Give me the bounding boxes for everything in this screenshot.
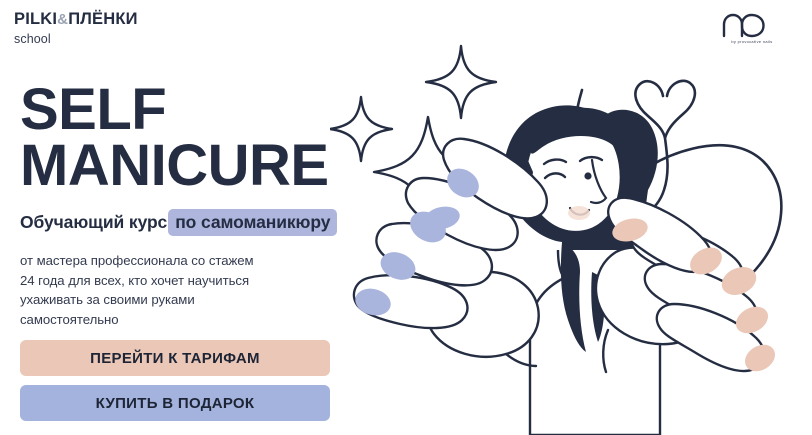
- nail: [376, 247, 419, 285]
- hair-strand: [518, 156, 538, 228]
- buy-as-gift-button[interactable]: КУПИТЬ В ПОДАРОК: [20, 385, 330, 421]
- left-hand: [352, 139, 547, 366]
- sparkle-icon: [426, 46, 496, 118]
- brand-ampersand: &: [57, 11, 68, 28]
- torso-shirt: [530, 250, 660, 435]
- no-monogram-icon: [714, 12, 790, 38]
- brand-subtitle: school: [14, 33, 138, 46]
- blush: [568, 206, 590, 220]
- nail: [740, 339, 780, 376]
- hair-fringe: [530, 108, 634, 186]
- subheadline-plain: Обучающий курс: [20, 212, 167, 232]
- subheadline-highlight: по самоманикюру: [168, 209, 337, 236]
- nail: [405, 205, 452, 248]
- hair-tip: [591, 272, 605, 342]
- hero-copy: SELF MANICURE Обучающий курспо самоманик…: [20, 82, 360, 329]
- eyebrow-left: [544, 160, 566, 164]
- face: [526, 124, 621, 232]
- eye-left-wink: [545, 173, 565, 178]
- sparkle-icon: [374, 117, 482, 227]
- figure: [352, 105, 780, 435]
- nail: [610, 215, 650, 245]
- brand-name-cyrillic: ПЛЁНКИ: [68, 10, 138, 28]
- partner-caption: by provocative nails: [714, 39, 790, 44]
- hair-over-shoulder: [561, 242, 586, 352]
- heart-doodle-icon: [623, 81, 782, 300]
- nail: [685, 242, 726, 280]
- hero-illustration: [330, 0, 812, 435]
- partner-logo[interactable]: by provocative nails: [714, 12, 790, 44]
- brand-logo[interactable]: PILKI&ПЛЁНКИ school: [14, 11, 138, 45]
- go-to-pricing-button[interactable]: ПЕРЕЙТИ К ТАРИФАМ: [20, 340, 330, 376]
- eyebrow-right: [580, 157, 602, 161]
- nail: [731, 301, 772, 338]
- hero-subheadline: Обучающий курспо самоманикюру: [20, 212, 360, 233]
- mouth: [570, 208, 589, 215]
- woman-with-manicure-illustration: [330, 0, 812, 435]
- hair: [504, 105, 658, 344]
- brand-wordmark: PILKI&ПЛЁНКИ: [14, 11, 138, 28]
- nail: [422, 203, 462, 232]
- page-title: SELF MANICURE: [20, 82, 360, 193]
- brand-name-latin: PILKI: [14, 10, 57, 28]
- hero-banner: PILKI&ПЛЁНКИ school by provocative nails…: [0, 0, 812, 435]
- nail: [717, 262, 760, 300]
- nose: [591, 160, 606, 203]
- eye-right: [584, 172, 591, 179]
- right-hand: [596, 198, 780, 377]
- hero-description: от мастера профессионала со стажем 24 го…: [20, 251, 360, 329]
- nail: [442, 163, 485, 204]
- cta-group: ПЕРЕЙТИ К ТАРИФАМ КУПИТЬ В ПОДАРОК: [20, 340, 330, 421]
